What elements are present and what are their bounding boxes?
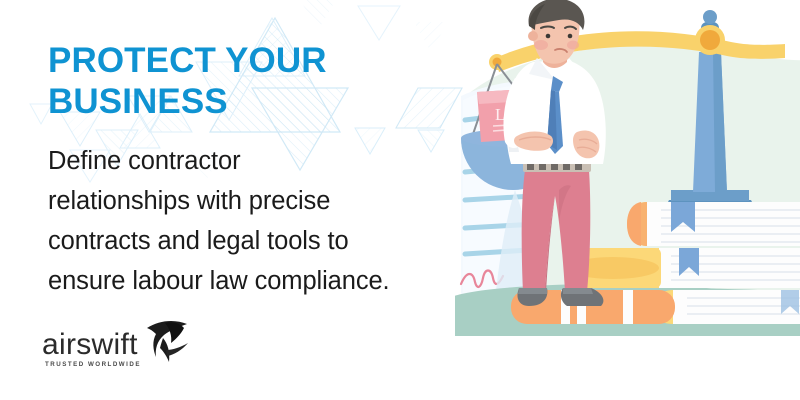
swift-bird-icon bbox=[143, 318, 201, 370]
labour-law-compliance-illustration: LAW bbox=[455, 0, 800, 400]
airswift-logo[interactable]: airswift TRUSTED WORLDWIDE bbox=[42, 322, 202, 380]
logo-wordmark: airswift bbox=[42, 328, 138, 362]
logo-tagline: TRUSTED WORLDWIDE bbox=[45, 361, 141, 368]
text-column: PROTECT YOUR BUSINESS Define contractor … bbox=[48, 40, 468, 301]
body-copy: Define contractor relationships with pre… bbox=[48, 141, 468, 301]
promotional-banner: PROTECT YOUR BUSINESS Define contractor … bbox=[0, 0, 800, 400]
page-title: PROTECT YOUR BUSINESS bbox=[48, 40, 468, 123]
